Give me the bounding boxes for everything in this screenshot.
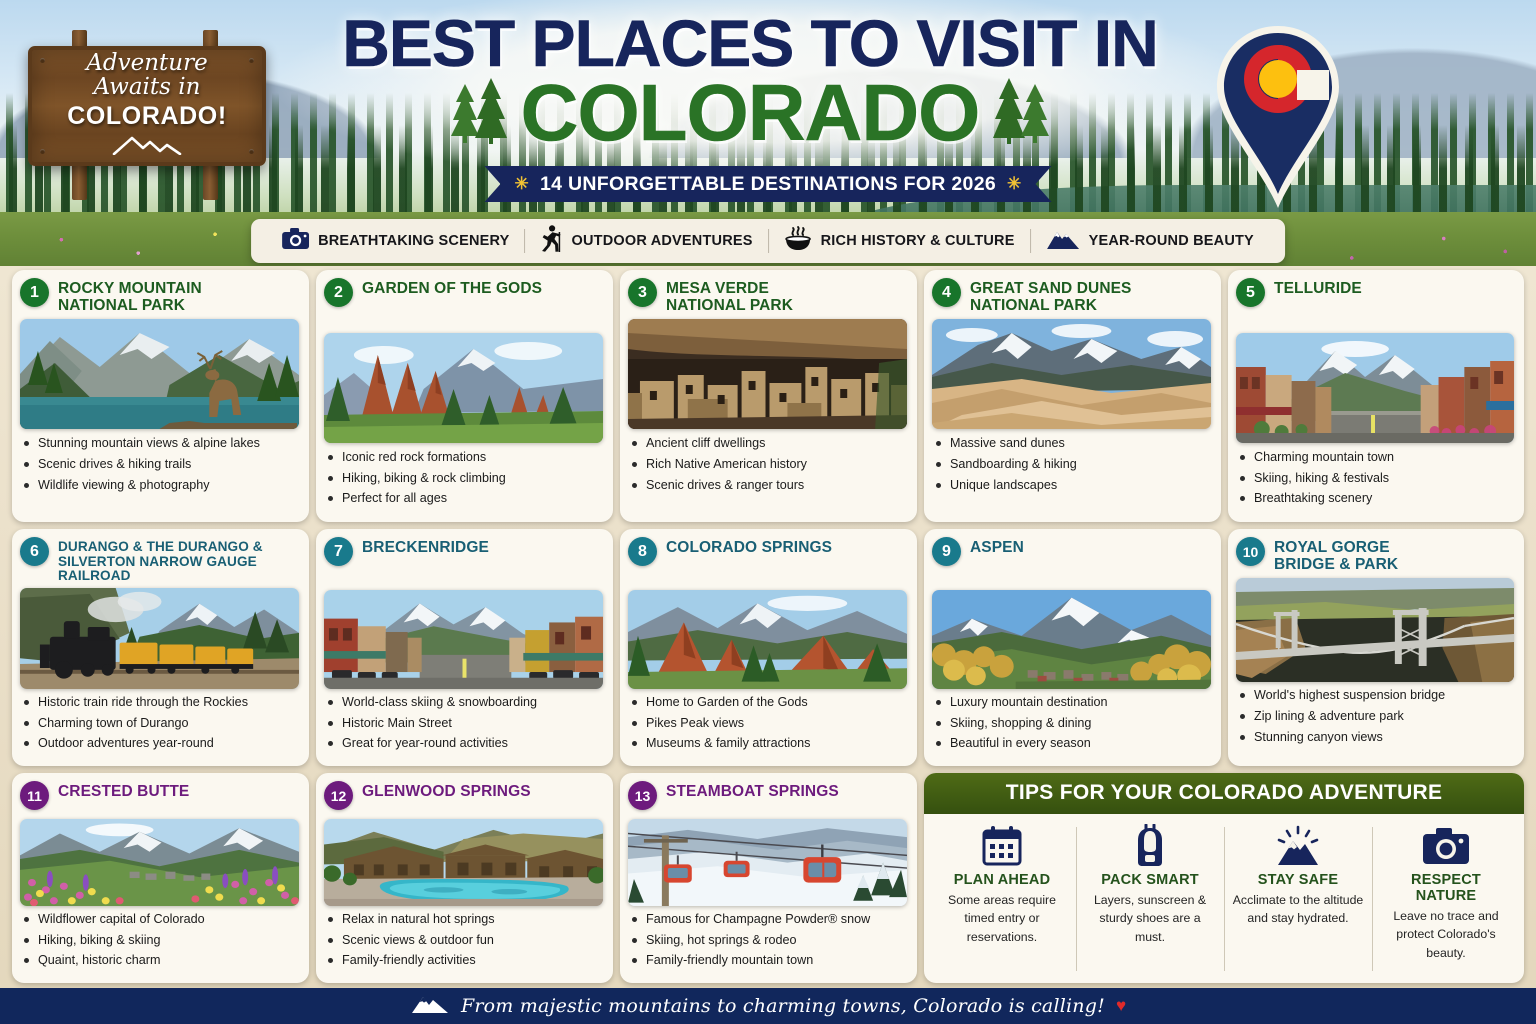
card-title-line1: MESA VERDE [666,281,793,298]
feature-label: RICH HISTORY & CULTURE [821,233,1015,249]
rank-badge: 13 [628,781,657,810]
destination-card-3[interactable]: 3 MESA VERDE NATIONAL PARK [620,270,917,522]
feature-item-outdoor: OUTDOOR ADVENTURES [526,225,768,257]
card-header: 5 TELLURIDE [1236,278,1514,312]
bullet: Iconic red rock formations [324,451,603,464]
destination-photo-colorado-springs [628,590,907,689]
destination-photo-royal-gorge [1236,578,1514,682]
pine-trees-right-icon [993,76,1049,149]
card-header: 8 COLORADO SPRINGS [628,537,907,571]
calendar-icon [936,823,1068,869]
card-title-line1: GLENWOOD SPRINGS [362,784,531,801]
tip-text: Layers, sunscreen & sturdy shoes are a m… [1084,891,1216,946]
destination-card-9[interactable]: 9 ASPEN [924,529,1221,766]
bullet: Massive sand dunes [932,437,1211,450]
card-bullets: World's highest suspension bridge Zip li… [1236,689,1514,751]
card-bullets: Wildflower capital of Colorado Hiking, b… [20,913,299,975]
card-title: ROYAL GORGE BRIDGE & PARK [1274,537,1398,573]
mountain-icon [1046,228,1080,255]
card-title-line2: NATIONAL PARK [58,298,202,315]
bullet: Skiing, hot springs & rodeo [628,934,907,947]
page-title-line2: COLORADO [521,77,980,149]
page-title-line2-row: COLORADO [300,76,1200,149]
card-bullets: Iconic red rock formations Hiking, bikin… [324,451,603,513]
destination-card-12[interactable]: 12 GLENWOOD SPRINGS [316,773,613,983]
page-title-line1: BEST PLACES TO VISIT IN [300,12,1200,75]
bullet: Charming mountain town [1236,451,1514,464]
card-header: 1 ROCKY MOUNTAIN NATIONAL PARK [20,278,299,314]
destination-photo-breckenridge [324,590,603,689]
card-header: 7 BRECKENRIDGE [324,537,603,571]
bullet: Museums & family attractions [628,737,907,750]
card-title: GLENWOOD SPRINGS [362,781,531,801]
card-title-line1: CRESTED BUTTE [58,784,189,801]
bullet: Wildlife viewing & photography [20,479,299,492]
bullet: Rich Native American history [628,458,907,471]
bullet: Famous for Champagne Powder® snow [628,913,907,926]
card-header: 13 STEAMBOAT SPRINGS [628,781,907,815]
destination-row-3: 11 CRESTED BUTTE [12,773,1524,983]
bullet: Family-friendly activities [324,954,603,967]
bullet: Luxury mountain destination [932,696,1211,709]
rank-badge: 3 [628,278,657,307]
card-title-line1: ASPEN [970,540,1024,557]
destination-card-11[interactable]: 11 CRESTED BUTTE [12,773,309,983]
bullet: Perfect for all ages [324,492,603,505]
bullet: Zip lining & adventure park [1236,710,1514,723]
bullet: Historic Main Street [324,717,603,730]
bullet: Beautiful in every season [932,737,1211,750]
card-title: GARDEN OF THE GODS [362,278,542,298]
feature-label: BREATHTAKING SCENERY [318,233,509,249]
destination-photo-mesa-verde [628,319,907,429]
card-title-line1: GREAT SAND DUNES [970,281,1132,298]
subtitle-ribbon: ✳ 14 UNFORGETTABLE DESTINATIONS FOR 2026… [484,166,1051,202]
card-header: 9 ASPEN [932,537,1211,571]
card-title: ASPEN [970,537,1024,557]
card-title-line2: NATIONAL PARK [666,298,793,315]
feature-item-yearround: YEAR-ROUND BEAUTY [1031,228,1269,255]
bullet: Wildflower capital of Colorado [20,913,299,926]
card-title-line1: BRECKENRIDGE [362,540,489,557]
card-title: CRESTED BUTTE [58,781,189,801]
card-header: 4 GREAT SAND DUNES NATIONAL PARK [932,278,1211,314]
tip-title: STAY SAFE [1232,872,1364,888]
bullet: Relax in natural hot springs [324,913,603,926]
card-header: 10 ROYAL GORGE BRIDGE & PARK [1236,537,1514,573]
sparkle-left-icon: ✳ [514,174,529,194]
destination-row-1: 1 ROCKY MOUNTAIN NATIONAL PARK [12,270,1524,522]
card-title-line2: SILVERTON NARROW GAUGE RAILROAD [58,555,299,584]
tip-text: Acclimate to the altitude and stay hydra… [1232,891,1364,928]
destination-photo-aspen [932,590,1211,689]
card-title: TELLURIDE [1274,278,1362,298]
card-title-line1: STEAMBOAT SPRINGS [666,784,839,801]
backpack-icon [1084,823,1216,869]
feature-item-history: RICH HISTORY & CULTURE [769,226,1030,256]
destination-photo-durango-train [20,588,299,689]
rank-badge: 6 [20,537,49,566]
destination-card-4[interactable]: 4 GREAT SAND DUNES NATIONAL PARK [924,270,1221,522]
hiker-icon [541,225,563,257]
destination-card-8[interactable]: 8 COLORADO SPRINGS [620,529,917,766]
card-title-line1: COLORADO SPRINGS [666,540,832,557]
card-title: GREAT SAND DUNES NATIONAL PARK [970,278,1132,314]
bullet: Hiking, biking & skiing [20,934,299,947]
bullet: Breathtaking scenery [1236,492,1514,505]
card-header: 11 CRESTED BUTTE [20,781,299,815]
bullet: Home to Garden of the Gods [628,696,907,709]
destination-photo-crested-butte [20,819,299,906]
feature-item-scenery: BREATHTAKING SCENERY [267,228,524,254]
feature-label: OUTDOOR ADVENTURES [572,233,753,249]
rank-badge: 7 [324,537,353,566]
card-title-line1: GARDEN OF THE GODS [362,281,542,298]
tip-pack-smart: PACK SMART Layers, sunscreen & sturdy sh… [1076,823,1224,975]
card-bullets: Stunning mountain views & alpine lakes S… [20,437,299,499]
bullet: Pikes Peak views [628,717,907,730]
colorado-flag-map-pin-icon [1205,22,1351,212]
rank-badge: 8 [628,537,657,566]
bullet: Ancient cliff dwellings [628,437,907,450]
rank-badge: 12 [324,781,353,810]
tips-panel: TIPS FOR YOUR COLORADO ADVENTURE [924,773,1524,983]
tip-stay-safe: STAY SAFE Acclimate to the altitude and … [1224,823,1372,975]
bullet: Charming town of Durango [20,717,299,730]
heart-icon: ♥ [1116,996,1126,1016]
destination-card-13[interactable]: 13 STEAMBOAT SPRINGS [620,773,917,983]
bullet: Scenic drives & hiking trails [20,458,299,471]
bullet: Scenic drives & ranger tours [628,479,907,492]
card-title: MESA VERDE NATIONAL PARK [666,278,793,314]
card-header: 6 DURANGO & THE DURANGO & SILVERTON NARR… [20,537,299,583]
card-title-line1: ROCKY MOUNTAIN [58,281,202,298]
bullet: Family-friendly mountain town [628,954,907,967]
destination-card-10[interactable]: 10 ROYAL GORGE BRIDGE & PARK [1228,529,1524,766]
tips-heading: TIPS FOR YOUR COLORADO ADVENTURE [924,773,1524,814]
destination-card-7[interactable]: 7 BRECKENRIDGE [316,529,613,766]
destination-card-5[interactable]: 5 TELLURIDE [1228,270,1524,522]
rank-badge: 5 [1236,278,1265,307]
bullet: Quaint, historic charm [20,954,299,967]
card-bullets: Luxury mountain destination Skiing, shop… [932,696,1211,758]
card-title-line1: ROYAL GORGE [1274,540,1398,557]
camera-icon [1380,823,1512,869]
card-title: COLORADO SPRINGS [666,537,832,557]
bullet: Stunning mountain views & alpine lakes [20,437,299,450]
bullet: Skiing, shopping & dining [932,717,1211,730]
destination-photo-telluride [1236,333,1514,443]
destination-card-1[interactable]: 1 ROCKY MOUNTAIN NATIONAL PARK [12,270,309,522]
card-title-line1: TELLURIDE [1274,281,1362,298]
mountain-icon [410,994,450,1019]
bullet: Sandboarding & hiking [932,458,1211,471]
tip-title: PACK SMART [1084,872,1216,888]
destination-photo-glenwood-springs [324,819,603,906]
tips-body: PLAN AHEAD Some areas require timed entr… [924,814,1524,983]
camera-icon [282,228,309,254]
destinations-grid: 1 ROCKY MOUNTAIN NATIONAL PARK [12,270,1524,990]
sparkle-right-icon: ✳ [1007,174,1022,194]
tip-text: Leave no trace and protect Colorado's be… [1380,907,1512,962]
card-bullets: Ancient cliff dwellings Rich Native Amer… [628,437,907,499]
card-bullets: Historic train ride through the Rockies … [20,696,299,758]
card-title-line1: DURANGO & THE DURANGO & [58,540,299,555]
tip-plan-ahead: PLAN AHEAD Some areas require timed entr… [928,823,1076,975]
rank-badge: 4 [932,278,961,307]
bullet: Stunning canyon views [1236,731,1514,744]
card-bullets: Massive sand dunes Sandboarding & hiking… [932,437,1211,499]
bullet: Outdoor adventures year-round [20,737,299,750]
rank-badge: 10 [1236,537,1265,566]
hot-springs-icon [784,226,812,256]
sun-mountain-icon [1232,823,1364,869]
card-bullets: Famous for Champagne Powder® snow Skiing… [628,913,907,975]
card-title: DURANGO & THE DURANGO & SILVERTON NARROW… [58,537,299,584]
card-header: 2 GARDEN OF THE GODS [324,278,603,312]
rank-badge: 2 [324,278,353,307]
tip-title: RESPECT NATURE [1380,872,1512,904]
card-bullets: Relax in natural hot springs Scenic view… [324,913,603,975]
rank-badge: 1 [20,278,49,307]
bullet: Historic train ride through the Rockies [20,696,299,709]
card-bullets: World-class skiing & snowboarding Histor… [324,696,603,758]
bullet: Skiing, hiking & festivals [1236,472,1514,485]
card-title: BRECKENRIDGE [362,537,489,557]
subtitle-text: 14 UNFORGETTABLE DESTINATIONS FOR 2026 [540,173,996,196]
destination-photo-rocky-mountain [20,319,299,429]
destination-card-6[interactable]: 6 DURANGO & THE DURANGO & SILVERTON NARR… [12,529,309,766]
card-bullets: Home to Garden of the Gods Pikes Peak vi… [628,696,907,758]
card-title: ROCKY MOUNTAIN NATIONAL PARK [58,278,202,314]
bullet: World-class skiing & snowboarding [324,696,603,709]
card-title: STEAMBOAT SPRINGS [666,781,839,801]
destination-photo-great-sand-dunes [932,319,1211,429]
footer-text: From majestic mountains to charming town… [461,995,1105,1017]
bullet: World's highest suspension bridge [1236,689,1514,702]
footer-bar: From majestic mountains to charming town… [0,988,1536,1024]
card-title-line2: BRIDGE & PARK [1274,557,1398,574]
card-title-line2: NATIONAL PARK [970,298,1132,315]
hero-banner: Adventure Awaits in COLORADO! BEST PLACE… [0,0,1536,272]
card-bullets: Charming mountain town Skiing, hiking & … [1236,451,1514,513]
rank-badge: 11 [20,781,49,810]
feature-label: YEAR-ROUND BEAUTY [1089,233,1254,249]
card-header: 12 GLENWOOD SPRINGS [324,781,603,815]
bullet: Unique landscapes [932,479,1211,492]
bullet: Great for year-round activities [324,737,603,750]
tip-respect-nature: RESPECT NATURE Leave no trace and protec… [1372,823,1520,975]
rank-badge: 9 [932,537,961,566]
feature-bar: BREATHTAKING SCENERY OUTDOOR ADVENTURES [251,219,1285,263]
bullet: Scenic views & outdoor fun [324,934,603,947]
tip-text: Some areas require timed entry or reserv… [936,891,1068,946]
tip-title: PLAN AHEAD [936,872,1068,888]
bullet: Hiking, biking & rock climbing [324,472,603,485]
destination-card-2[interactable]: 2 GARDEN OF THE GODS [316,270,613,522]
card-header: 3 MESA VERDE NATIONAL PARK [628,278,907,314]
destination-photo-garden-of-the-gods [324,333,603,443]
destination-row-2: 6 DURANGO & THE DURANGO & SILVERTON NARR… [12,529,1524,766]
pine-trees-left-icon [451,76,507,149]
destination-photo-steamboat-springs [628,819,907,906]
